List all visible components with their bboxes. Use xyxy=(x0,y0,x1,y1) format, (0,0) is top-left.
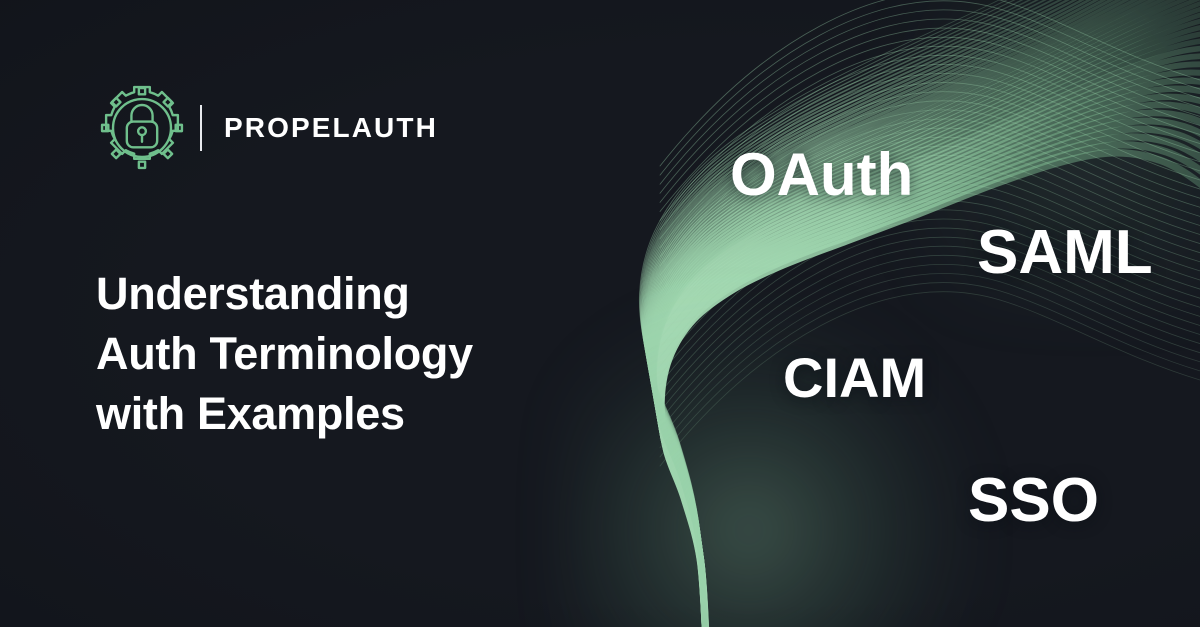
page-title-line-3: with Examples xyxy=(96,384,656,444)
term-oauth: OAuth xyxy=(730,145,913,205)
page-title-line-1: Understanding xyxy=(96,264,656,324)
brand-logo-lockup[interactable]: PROPELAUTH xyxy=(96,80,438,176)
brand-wordmark: PROPELAUTH xyxy=(224,114,438,142)
gear-lock-icon xyxy=(96,82,188,174)
page-title: Understanding Auth Terminology with Exam… xyxy=(96,264,656,444)
banner-root: PROPELAUTH Understanding Auth Terminolog… xyxy=(0,0,1200,627)
logo-divider xyxy=(200,105,202,151)
term-sso: SSO xyxy=(968,470,1099,532)
term-ciam: CIAM xyxy=(783,350,926,406)
term-saml: SAML xyxy=(977,222,1153,284)
page-title-line-2: Auth Terminology xyxy=(96,324,656,384)
